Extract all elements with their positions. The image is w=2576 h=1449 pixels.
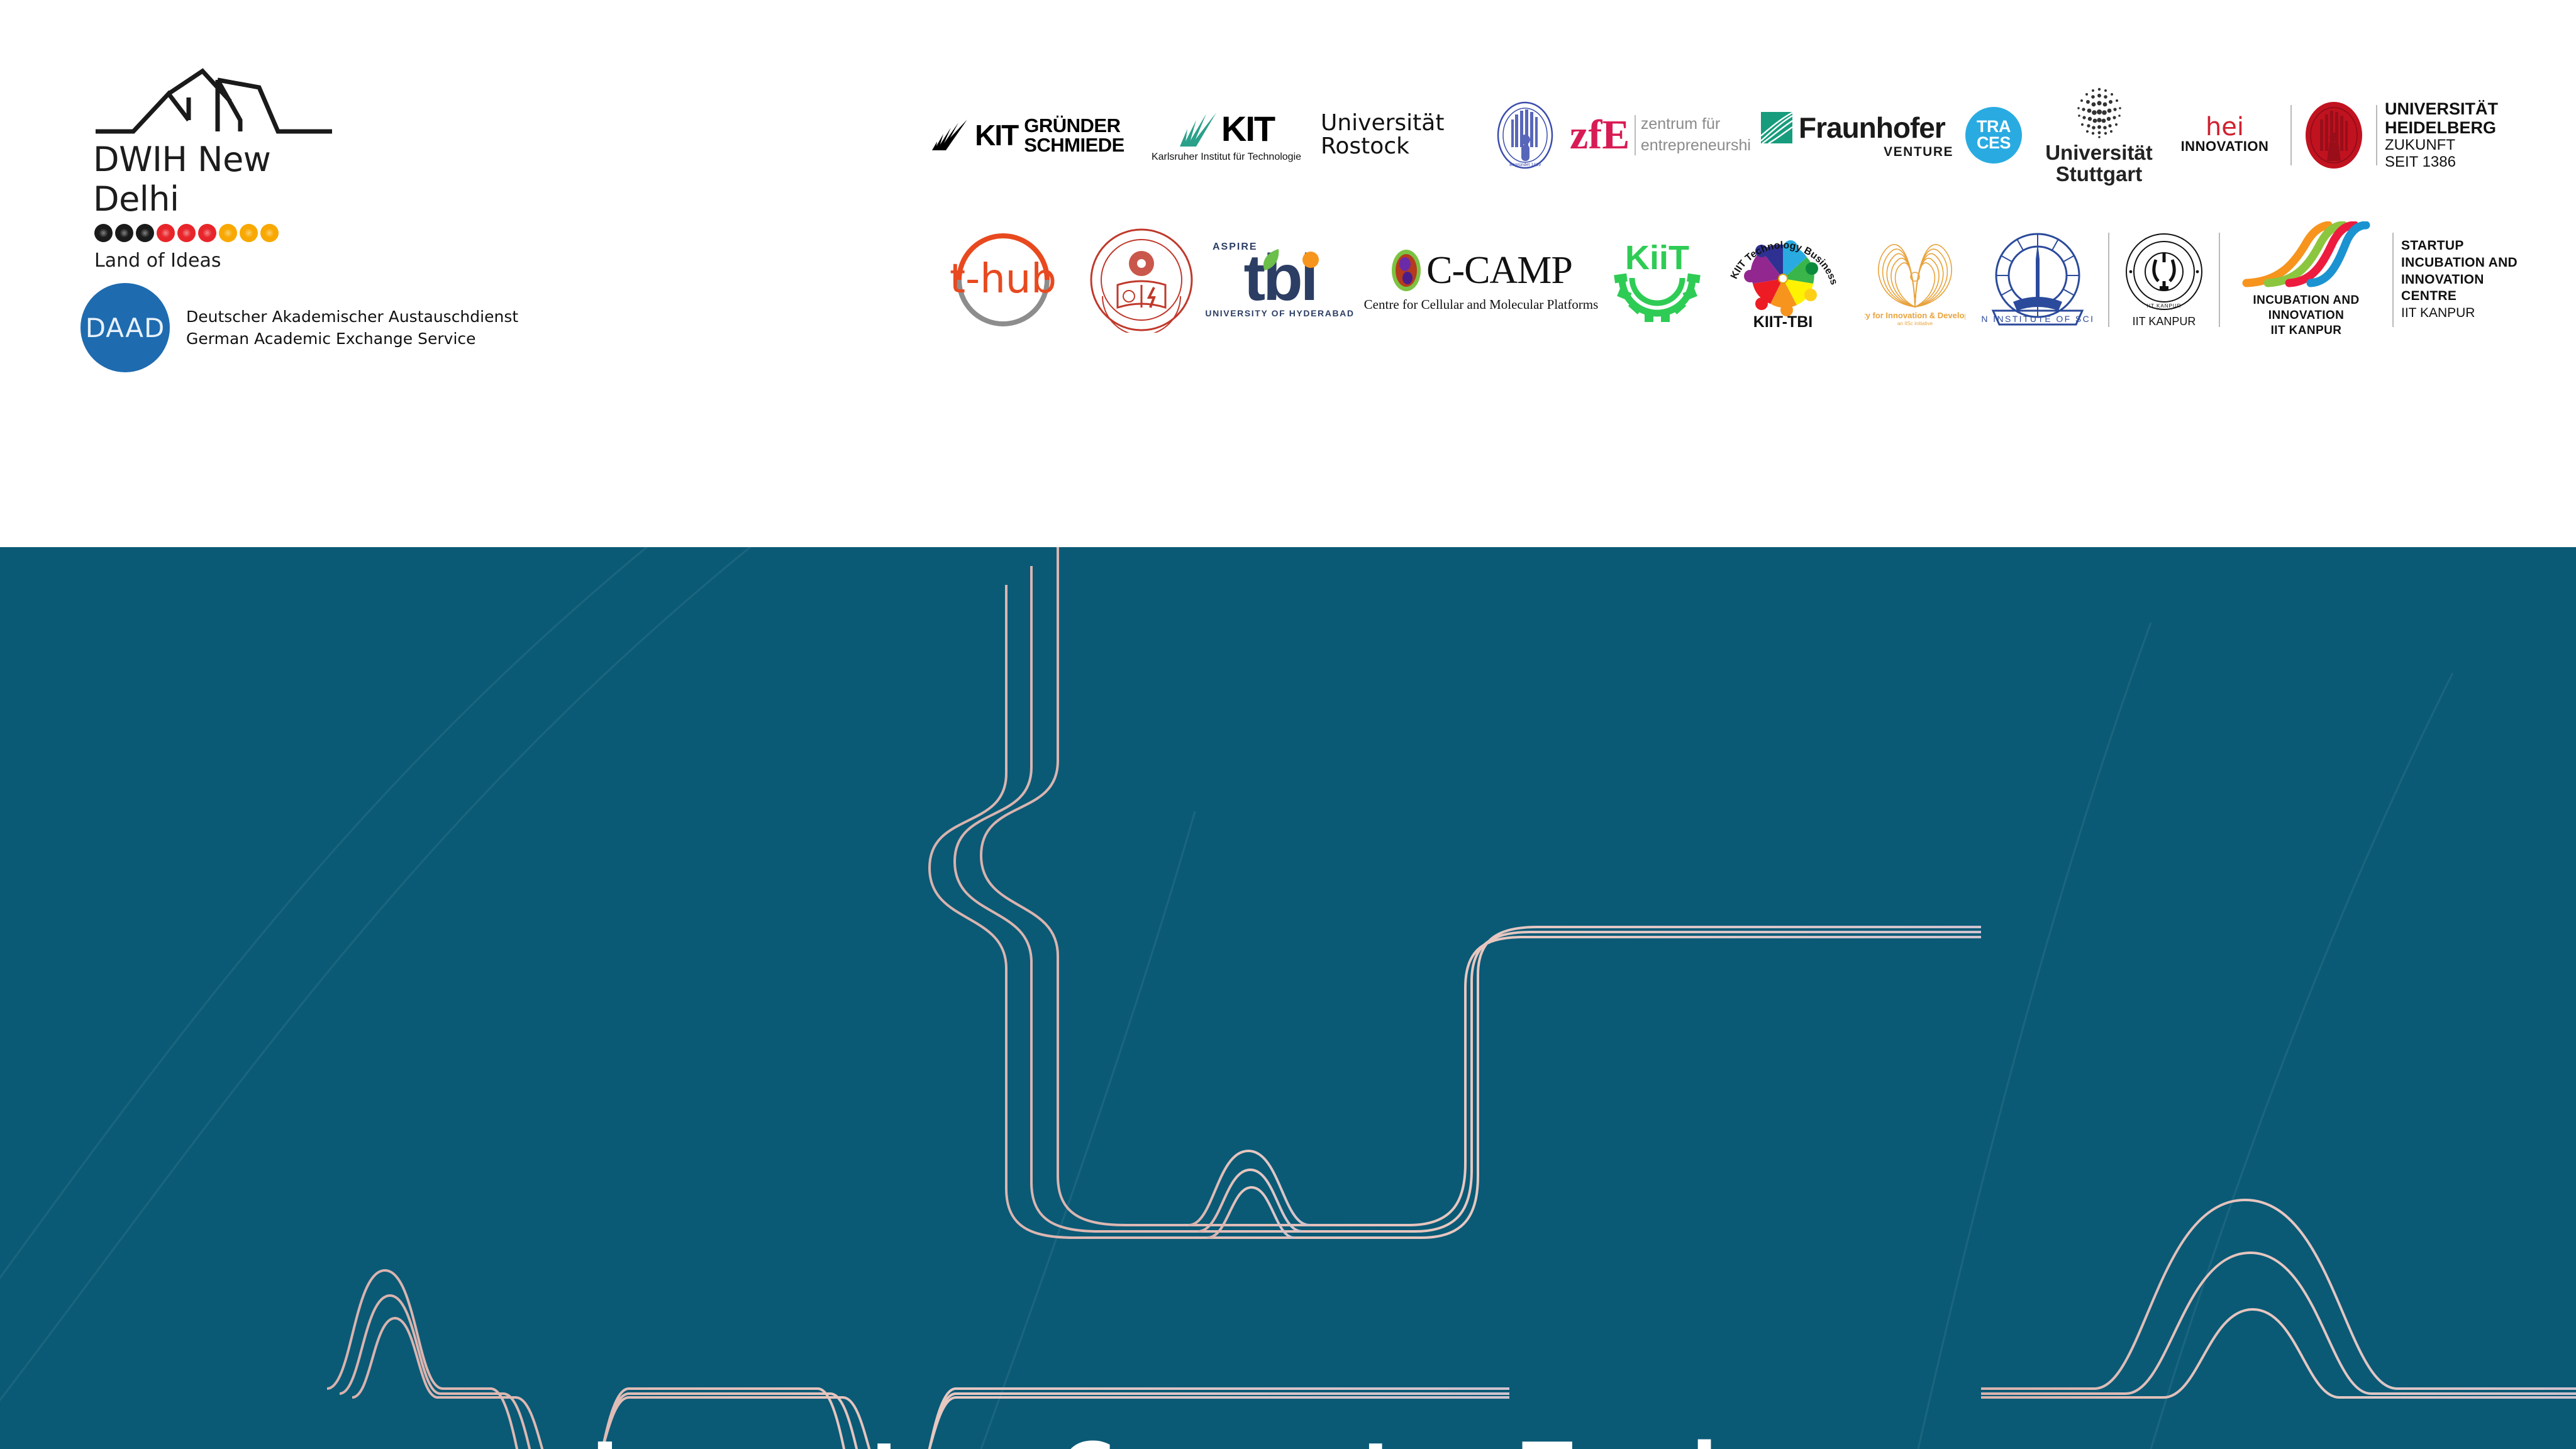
logo-hei-innovation: hei INNOVATION: [2167, 116, 2283, 155]
dwih-flower-dot-4: [157, 224, 175, 242]
logo-iit-kanpur: IIT KANPUR IIT KANPUR: [2117, 232, 2211, 328]
divider: [2219, 233, 2220, 327]
daad-circle: DAAD: [80, 283, 170, 372]
iisc-icon: INDIAN INSTITUTE OF SCIENCE: [1982, 226, 2094, 333]
partner-logos: KIT GRÜNDER SCHMIEDE: [924, 88, 2572, 346]
iit-kanpur-caption: IIT KANPUR: [2133, 315, 2196, 328]
daad-acronym: DAAD: [86, 313, 165, 343]
logo-kit-karlsruhe: KIT Karlsruher Institut für Technologie: [1132, 108, 1321, 163]
fraunhofer-wordmark: Fraunhofer: [1799, 111, 1945, 145]
divider: [2392, 233, 2394, 327]
kiit-wordmark: KiiT: [1625, 239, 1689, 277]
heidelberg-line4: SEIT 1386: [2385, 154, 2456, 171]
siic-line5: IIT KANPUR: [2401, 305, 2475, 322]
dwih-flower-dot-9: [260, 224, 279, 242]
iisc-caption: INDIAN INSTITUTE OF SCIENCE: [1982, 314, 2094, 324]
divider: [2290, 105, 2292, 165]
dot-icon: [1301, 250, 1320, 269]
logo-kit-gruenderschmiede: KIT GRÜNDER SCHMIEDE: [924, 116, 1132, 155]
zfe-divider: [1635, 115, 1636, 155]
dwih-flower-dot-8: [240, 224, 258, 242]
sid-butterfly-icon: Society for Innovation & Development an …: [1865, 233, 1965, 327]
iik-line1: INCUBATION AND INNOVATION: [2228, 293, 2385, 323]
kit-gs-line1: GRÜNDER: [1024, 116, 1124, 135]
rostock-line2: Rostock: [1321, 135, 1409, 158]
dwih-flower-dot-7: [219, 224, 237, 242]
t-hub-icon: t-hub: [940, 226, 1066, 333]
logo-universitaet-stuttgart: Universität Stuttgart: [2031, 86, 2167, 186]
dwih-flower-dot-3: [136, 224, 154, 242]
logo-zfe: zfE zentrum für entrepreneurshi: [1560, 114, 1761, 157]
dwih-dot-row: [94, 224, 345, 242]
iik-line2: IIT KANPUR: [2228, 323, 2385, 338]
daad-line2: German Academic Exchange Service: [186, 328, 518, 350]
heidelberg-seal-icon: [2304, 101, 2363, 170]
sid-caption: Society for Innovation & Development: [1865, 311, 1965, 320]
kit-k-acronym: KIT: [1221, 108, 1274, 149]
logo-aspire-tbi: ASPIRE tbi UNIVERSITY OF HYDERABAD: [1201, 241, 1358, 318]
kit-acronym: KIT: [975, 118, 1018, 152]
heidelberg-line2: HEIDELBERG: [2385, 118, 2498, 137]
uoh-seal-icon: [1089, 227, 1194, 333]
stuttgart-dots-icon: [2072, 86, 2126, 140]
logo-universitaet-heidelberg-text: UNIVERSITÄT HEIDELBERG ZUKUNFT SEIT 1386: [2385, 99, 2529, 171]
dwih-flower-dot-6: [198, 224, 216, 242]
fraunhofer-square-icon: [1761, 112, 1792, 143]
logo-traces: TRA CES: [1956, 107, 2031, 164]
daad-line1: Deutscher Akademischer Austauschdienst: [186, 306, 518, 328]
sid-subcaption: an IISc initiative: [1897, 321, 1933, 326]
logo-university-of-hyderabad: [1082, 227, 1201, 333]
logo-incubation-and-innovation-iit-kanpur: INCUBATION AND INNOVATION IIT KANPUR: [2228, 221, 2385, 338]
svg-text:IIT KANPUR: IIT KANPUR: [2147, 303, 2182, 309]
kit-fan-icon: [932, 119, 969, 152]
mountain-icon: [94, 66, 333, 138]
zfe-acronym: zfE: [1570, 116, 1629, 155]
dwih-tagline: Land of Ideas: [94, 250, 345, 272]
leaf-icon: [1260, 248, 1281, 273]
hei-wordmark: hei: [2206, 116, 2244, 138]
siic-line1: STARTUP: [2401, 238, 2518, 255]
rostock-seal-caption: Begründet 1419: [1509, 163, 1541, 167]
banner-page: DWIH New Delhi Land of Ideas DAAD Deutsc…: [0, 0, 2576, 1449]
hei-innovation-caption: INNOVATION: [2181, 138, 2269, 155]
kiit-tbi-pinwheel-icon: KIIT-TBI KIIT Technology Business Incuba…: [1720, 230, 1846, 330]
zfe-line2: entrepreneurshi: [1641, 135, 1751, 157]
traces-circle: TRA CES: [1965, 107, 2022, 164]
traces-line2: CES: [1977, 135, 2011, 152]
kit-gs-line2: SCHMIEDE: [1024, 135, 1124, 155]
logo-kiit: KiiT: [1604, 233, 1711, 327]
logo-fraunhofer-venture: Fraunhofer VENTURE: [1761, 111, 1956, 160]
logo-society-for-innovation-development: Society for Innovation & Development an …: [1855, 233, 1975, 327]
partner-row-1: KIT GRÜNDER SCHMIEDE: [924, 88, 2572, 182]
kiit-gear-icon: KiiT: [1609, 233, 1705, 327]
rostock-line1: Universität: [1321, 112, 1444, 135]
rostock-seal-icon: Begründet 1419: [1496, 101, 1554, 170]
dwih-flower-dot-1: [94, 224, 113, 242]
hero-content: Innovators Connect 11 November - 22 Nove…: [0, 547, 2576, 1449]
zfe-line1: zentrum für: [1641, 114, 1751, 135]
hero-banner: Innovators Connect 11 November - 22 Nove…: [0, 547, 2576, 1449]
partner-row-2: t-hub: [924, 214, 2572, 346]
fraunhofer-venture-caption: VENTURE: [1884, 145, 1953, 160]
logo-startup-incubation-innovation-centre: STARTUP INCUBATION AND INNOVATION CENTRE…: [2401, 238, 2571, 322]
logo-band: DWIH New Delhi Land of Ideas DAAD Deutsc…: [0, 0, 2576, 547]
t-hub-wordmark: t-hub: [950, 256, 1057, 303]
dwih-flower-dot-2: [115, 224, 133, 242]
kit-k-caption: Karlsruher Institut für Technologie: [1152, 152, 1301, 163]
siic-line4: CENTRE: [2401, 288, 2518, 305]
kit-green-fan-icon: [1179, 111, 1218, 149]
logo-t-hub: t-hub: [924, 226, 1082, 333]
logo-heidelberg-seal: [2299, 101, 2368, 170]
logo-kiit-tbi: KIIT-TBI KIIT Technology Business Incuba…: [1711, 230, 1855, 330]
c-camp-wordmark: C-CAMP: [1426, 251, 1572, 290]
dwih-logo: DWIH New Delhi Land of Ideas: [80, 66, 345, 272]
logo-c-camp: C-CAMP Centre for Cellular and Molecular…: [1358, 248, 1604, 313]
siic-line2: INCUBATION AND: [2401, 255, 2518, 272]
daad-logo: DAAD Deutscher Akademischer Austauschdie…: [80, 283, 518, 372]
logo-universitaet-rostock: Universität Rostock: [1321, 112, 1491, 158]
divider: [2108, 233, 2109, 327]
logo-rostock-seal: Begründet 1419: [1491, 101, 1560, 170]
kiit-tbi-wordmark: KIIT-TBI: [1753, 313, 1813, 330]
heidelberg-line1: UNIVERSITÄT: [2385, 99, 2498, 118]
dwih-title: DWIH New Delhi: [93, 140, 345, 219]
cell-icon: [1390, 248, 1423, 293]
stuttgart-line2: Stuttgart: [2045, 164, 2153, 185]
siic-line3: INNOVATION: [2401, 272, 2518, 289]
hero-title-left: Innovators Connect: [591, 1426, 1397, 1449]
iit-kanpur-seal-icon: IIT KANPUR: [2124, 232, 2204, 311]
hero-title-right: Tandem: [1522, 1426, 1843, 1449]
heidelberg-line3: ZUKUNFT: [2385, 137, 2456, 154]
logo-indian-institute-of-science: INDIAN INSTITUTE OF SCIENCE: [1975, 226, 2101, 333]
stuttgart-line1: Universität: [2045, 142, 2153, 164]
daad-text: Deutscher Akademischer Austauschdienst G…: [186, 306, 518, 350]
dwih-flower-dot-5: [177, 224, 196, 242]
c-camp-caption: Centre for Cellular and Molecular Platfo…: [1364, 297, 1599, 313]
iik-swoosh-icon: [2240, 221, 2372, 291]
divider: [2376, 105, 2377, 165]
